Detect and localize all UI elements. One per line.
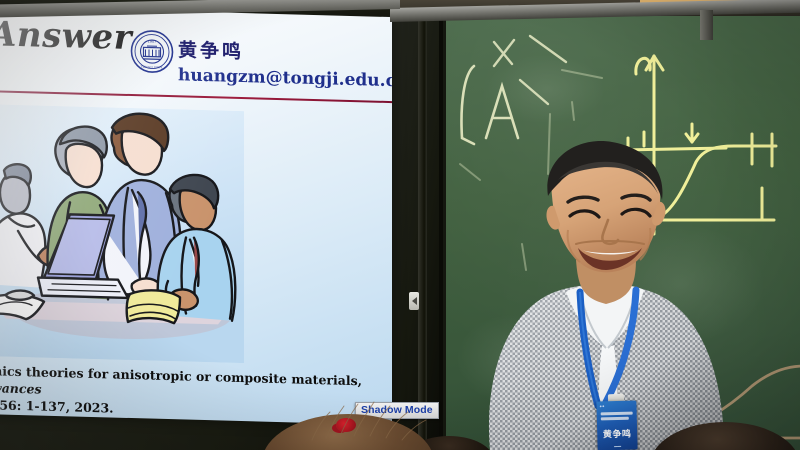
presenter-name-chinese: 黄争鸣 — [178, 35, 244, 64]
svg-text:TONGJI UNIV.: TONGJI UNIV. — [139, 65, 163, 70]
svg-text:1907: 1907 — [148, 39, 157, 43]
badge-name-text: 黄争鸣 — [597, 426, 637, 440]
team-meeting-clipart — [0, 104, 244, 363]
projection-slide: Answer 1907 TONGJI UNIV. 黄争鸣 huangzm@ton… — [0, 6, 392, 425]
blackboard-slide-handle[interactable] — [409, 292, 419, 310]
presenter-email: huangzm@tongji.edu.cn — [178, 65, 392, 91]
lecture-hall-photo: Answer 1907 TONGJI UNIV. 黄争鸣 huangzm@ton… — [0, 0, 800, 450]
sliding-blackboard-panel[interactable] — [385, 16, 443, 450]
conference-badge: ●● 黄争鸣 ▬▬ — [596, 400, 637, 450]
badge-logo-text: ●● — [599, 403, 604, 408]
tongji-university-seal-icon: 1907 TONGJI UNIV. — [130, 29, 174, 74]
citation-line1: hanics theories for anisotropic or compo… — [0, 363, 362, 388]
red-hair-tie — [336, 418, 356, 432]
slide-title: Answer — [0, 14, 132, 58]
badge-header-text — [601, 412, 633, 423]
x-variable-label — [490, 32, 580, 112]
badge-footer-text: ▬▬ — [597, 443, 637, 448]
rail-support-post — [700, 10, 713, 40]
blackboard-track-frame — [418, 16, 427, 450]
slide-header-rule — [0, 90, 392, 103]
citation-journal: Advances — [0, 380, 42, 397]
